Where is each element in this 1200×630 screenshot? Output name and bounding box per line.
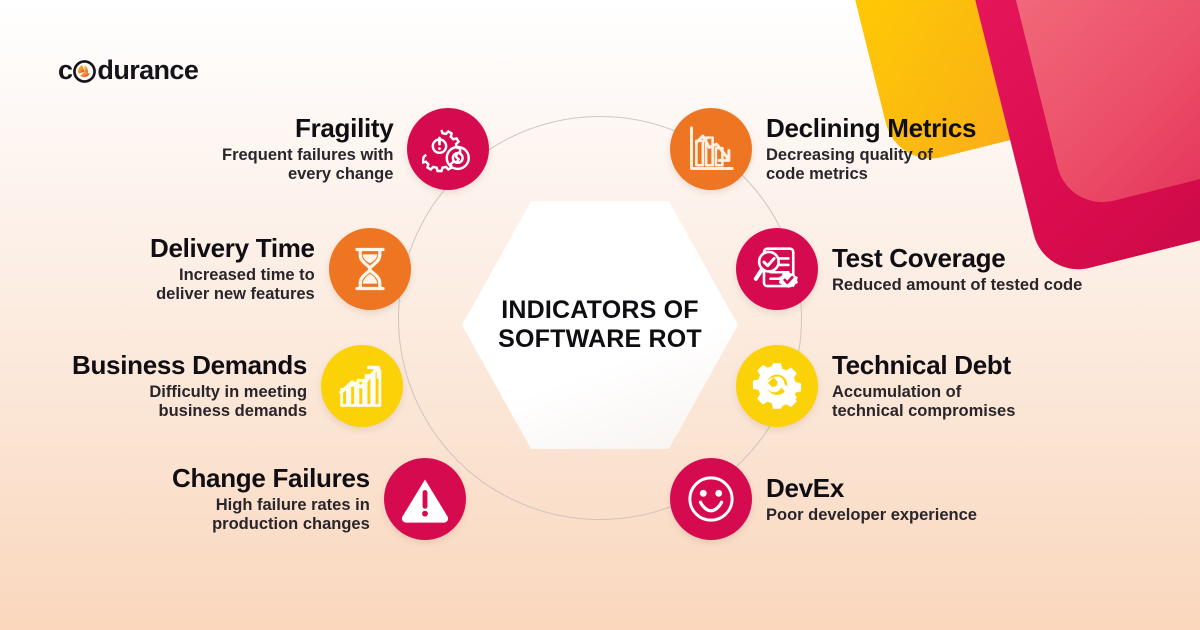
indicator-text: Change Failures High failure rates in pr…	[172, 463, 370, 535]
indicator-text: Declining Metrics Decreasing quality of …	[766, 113, 976, 185]
gear-wrench-icon	[751, 360, 803, 412]
indicator-title: Business Demands	[72, 350, 307, 381]
warning-triangle-icon	[399, 473, 451, 525]
indicator-desc: Reduced amount of tested code	[832, 276, 1082, 295]
indicator-desc: High failure rates in production changes	[172, 496, 370, 535]
center-label: INDICATORS OF SOFTWARE ROT	[462, 196, 738, 454]
center-label-line1: INDICATORS OF	[501, 296, 699, 326]
indicator-text: Delivery Time Increased time to deliver …	[150, 233, 315, 305]
indicator-technical-debt[interactable]: Technical Debt Accumulation of technical…	[736, 345, 1015, 427]
smiley-face-icon	[685, 473, 737, 525]
logo-text-after: durance	[97, 57, 198, 84]
codurance-logo: c durance	[58, 55, 198, 85]
indicator-fragility[interactable]: Fragility Frequent failures with every c…	[222, 108, 489, 190]
indicator-declining-metrics[interactable]: Declining Metrics Decreasing quality of …	[670, 108, 976, 190]
indicator-desc: Decreasing quality of code metrics	[766, 146, 976, 185]
center-label-line2: SOFTWARE ROT	[498, 325, 702, 355]
infographic-canvas: c durance INDICATORS OF	[0, 0, 1200, 630]
logo-text-before: c	[58, 57, 72, 84]
bar-chart-down-icon	[685, 123, 737, 175]
indicator-icon-bubble	[670, 108, 752, 190]
indicator-title: Fragility	[222, 113, 393, 144]
center-hexagon: INDICATORS OF SOFTWARE ROT	[462, 196, 738, 454]
indicator-business-demands[interactable]: Business Demands Difficulty in meeting b…	[72, 345, 403, 427]
indicator-desc: Accumulation of technical compromises	[832, 383, 1015, 422]
indicator-delivery-time[interactable]: Delivery Time Increased time to deliver …	[150, 228, 411, 310]
indicator-icon-bubble	[670, 458, 752, 540]
indicator-title: Change Failures	[172, 463, 370, 494]
indicator-desc: Frequent failures with every change	[222, 146, 393, 185]
indicator-desc: Increased time to deliver new features	[150, 266, 315, 305]
indicator-icon-bubble	[736, 228, 818, 310]
indicator-title: Declining Metrics	[766, 113, 976, 144]
indicator-desc: Poor developer experience	[766, 506, 977, 525]
indicator-text: Business Demands Difficulty in meeting b…	[72, 350, 307, 422]
document-magnifier-check-icon	[751, 243, 803, 295]
indicator-icon-bubble	[329, 228, 411, 310]
indicator-title: Technical Debt	[832, 350, 1015, 381]
indicator-icon-bubble	[736, 345, 818, 427]
indicator-text: Fragility Frequent failures with every c…	[222, 113, 393, 185]
logo-swirl-icon	[73, 60, 96, 83]
indicator-icon-bubble	[407, 108, 489, 190]
indicator-icon-bubble	[384, 458, 466, 540]
indicator-text: Technical Debt Accumulation of technical…	[832, 350, 1015, 422]
indicator-title: Test Coverage	[832, 243, 1082, 274]
indicator-text: DevEx Poor developer experience	[766, 473, 977, 525]
indicator-change-failures[interactable]: Change Failures High failure rates in pr…	[172, 458, 466, 540]
gears-exclamation-icon	[422, 123, 474, 175]
indicator-icon-bubble	[321, 345, 403, 427]
indicator-title: DevEx	[766, 473, 977, 504]
indicator-devex[interactable]: DevEx Poor developer experience	[670, 458, 977, 540]
indicator-text: Test Coverage Reduced amount of tested c…	[832, 243, 1082, 295]
indicator-desc: Difficulty in meeting business demands	[72, 383, 307, 422]
bar-chart-up-arrow-icon	[336, 360, 388, 412]
indicator-title: Delivery Time	[150, 233, 315, 264]
hourglass-icon	[344, 243, 396, 295]
indicator-test-coverage[interactable]: Test Coverage Reduced amount of tested c…	[736, 228, 1082, 310]
